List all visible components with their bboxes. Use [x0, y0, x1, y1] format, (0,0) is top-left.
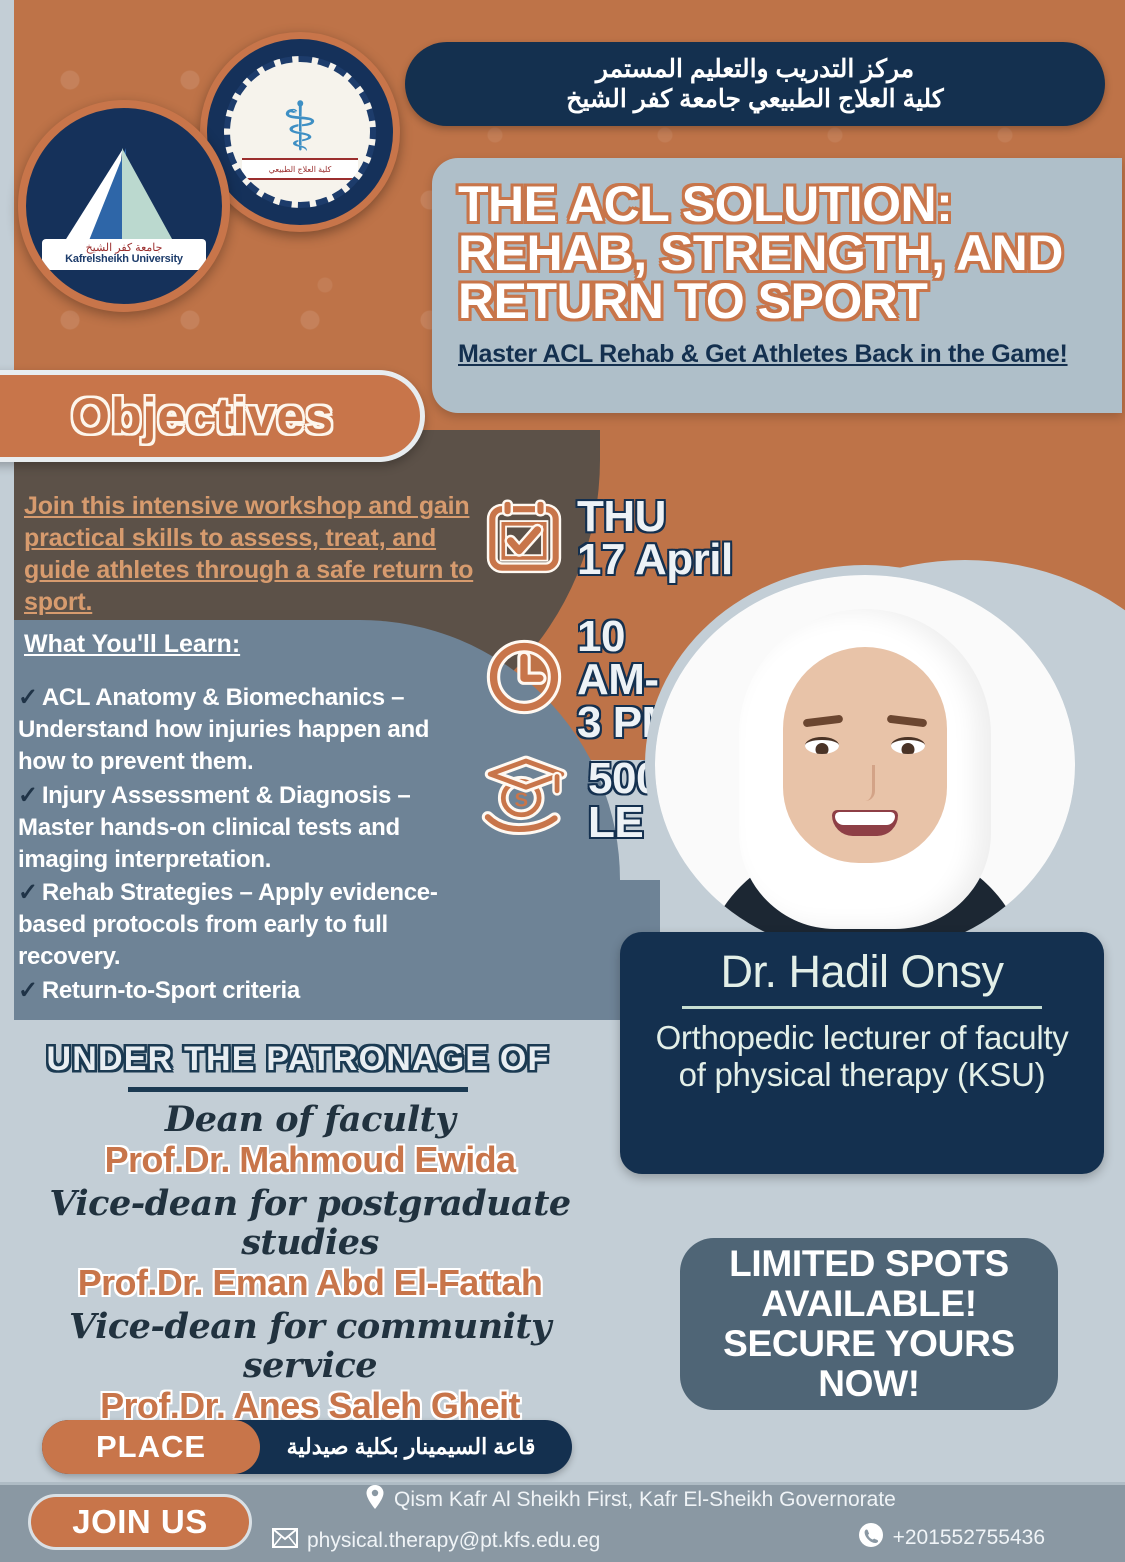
list-item: ✓Rehab Strategies – Apply evidence-based…: [18, 877, 478, 973]
faculty-seal-band-label: كلية العلاج الطبيعي: [242, 158, 358, 180]
patron-role: Vice-dean for postgraduate studies: [10, 1184, 610, 1262]
time-meridiem: AM-: [577, 655, 659, 704]
clock-icon: [485, 638, 563, 721]
info-date-text: THU 17 April: [577, 495, 733, 581]
list-item-text: Rehab Strategies – Apply evidence-based …: [18, 879, 438, 970]
university-logo: جامعة كفر الشيخ Kafrelsheikh University: [18, 100, 230, 312]
list-item: ✓Injury Assessment & Diagnosis – Master …: [18, 780, 478, 876]
contact-address: Qism Kafr Al Sheikh First, Kafr El-Sheik…: [365, 1484, 896, 1516]
email-text: physical.therapy@pt.kfs.edu.eg: [307, 1529, 600, 1553]
limited-spots-badge: LIMITED SPOTS AVAILABLE! SECURE YOURS NO…: [680, 1238, 1058, 1410]
objectives-label: Objectives: [71, 387, 334, 445]
university-name-english: Kafrelsheikh University: [47, 254, 201, 266]
photo-nose: [855, 765, 875, 801]
photo-mouth: [832, 810, 898, 836]
university-logo-label: جامعة كفر الشيخ Kafrelsheikh University: [42, 239, 206, 270]
address-text: Qism Kafr Al Sheikh First, Kafr El-Sheik…: [394, 1488, 896, 1512]
page-title: THE ACL SOLUTION: REHAB, STRENGTH, AND R…: [458, 180, 1096, 326]
envelope-icon: [272, 1528, 298, 1554]
speaker-name: Dr. Hadil Onsy: [638, 946, 1086, 998]
patron-name: Prof.Dr. Eman Abd El-Fattah: [10, 1262, 610, 1304]
arabic-header-banner: مركز التدريب والتعليم المستمر كلية العلا…: [405, 42, 1105, 126]
join-us-button[interactable]: JOIN US: [28, 1494, 252, 1550]
speaker-role: Orthopedic lecturer of faculty of physic…: [638, 1019, 1086, 1094]
place-bar: PLACE قاعة السيمينار بكلية صيدلية: [42, 1420, 572, 1474]
patronage-heading: UNDER THE PATRONAGE OF: [38, 1040, 558, 1079]
patronage-divider: [128, 1087, 468, 1092]
list-item-text: Return-to-Sport criteria: [42, 977, 300, 1004]
list-item-text: Injury Assessment & Diagnosis – Master h…: [18, 782, 410, 873]
patronage-list: Dean of faculty Prof.Dr. Mahmoud Ewida V…: [10, 1100, 610, 1429]
speaker-divider: [682, 1006, 1042, 1009]
check-icon: ✓: [18, 782, 38, 809]
contact-phone[interactable]: +201552755436: [858, 1522, 1045, 1554]
caduceus-icon: ⚕: [282, 93, 319, 161]
photo-eye-right: [891, 737, 925, 754]
place-label: PLACE: [42, 1420, 260, 1474]
svg-text:S: S: [514, 789, 528, 811]
photo-teeth: [835, 812, 895, 825]
title-card: THE ACL SOLUTION: REHAB, STRENGTH, AND R…: [432, 158, 1122, 413]
patron-role: Dean of faculty: [10, 1100, 610, 1139]
what-youll-learn-heading: What You'll Learn:: [24, 630, 240, 659]
list-item-text: ACL Anatomy & Biomechanics – Understand …: [18, 684, 429, 775]
faculty-seal-logo: ⚕ كلية العلاج الطبيعي: [200, 32, 400, 232]
phone-icon: [858, 1522, 884, 1554]
place-value: قاعة السيمينار بكلية صيدلية: [260, 1434, 572, 1460]
info-row-fee: S 500 LE: [478, 755, 660, 846]
check-icon: ✓: [18, 977, 38, 1004]
date-day: THU: [577, 492, 666, 541]
faculty-seal-inner: ⚕ كلية العلاج الطبيعي: [224, 56, 376, 208]
fee-currency: LE: [588, 798, 643, 847]
title-subtitle: Master ACL Rehab & Get Athletes Back in …: [458, 340, 1096, 369]
learning-points-list: ✓ACL Anatomy & Biomechanics – Understand…: [18, 682, 478, 1009]
objectives-intro-text: Join this intensive workshop and gain pr…: [24, 490, 474, 618]
check-icon: ✓: [18, 684, 38, 711]
graduation-fee-icon: S: [478, 755, 574, 846]
arabic-header-line1: مركز التدريب والتعليم المستمر: [596, 54, 914, 84]
list-item: ✓Return-to-Sport criteria: [18, 975, 478, 1007]
photo-face: [783, 647, 947, 863]
contact-email[interactable]: physical.therapy@pt.kfs.edu.eg: [272, 1528, 600, 1554]
calendar-icon: [485, 497, 563, 580]
location-pin-icon: [365, 1484, 385, 1516]
poster-root: ⚕ كلية العلاج الطبيعي جامعة كفر الشيخ Ka…: [0, 0, 1125, 1562]
patron-name: Prof.Dr. Mahmoud Ewida: [10, 1139, 610, 1181]
date-value: 17 April: [577, 535, 733, 584]
time-start: 10: [577, 612, 625, 661]
list-item: ✓ACL Anatomy & Biomechanics – Understand…: [18, 682, 478, 778]
photo-brow-left: [803, 715, 844, 728]
patron-role: Vice-dean for community service: [10, 1307, 610, 1385]
arabic-header-line2: كلية العلاج الطبيعي جامعة كفر الشيخ: [566, 84, 943, 114]
objectives-heading-pill: Objectives: [0, 370, 425, 462]
phone-text: +201552755436: [893, 1526, 1045, 1550]
info-row-date: THU 17 April: [485, 495, 733, 581]
speaker-photo: [645, 565, 1085, 965]
speaker-card: Dr. Hadil Onsy Orthopedic lecturer of fa…: [620, 932, 1104, 1174]
photo-eye-left: [805, 737, 839, 754]
check-icon: ✓: [18, 879, 38, 906]
photo-brow-right: [887, 715, 928, 728]
